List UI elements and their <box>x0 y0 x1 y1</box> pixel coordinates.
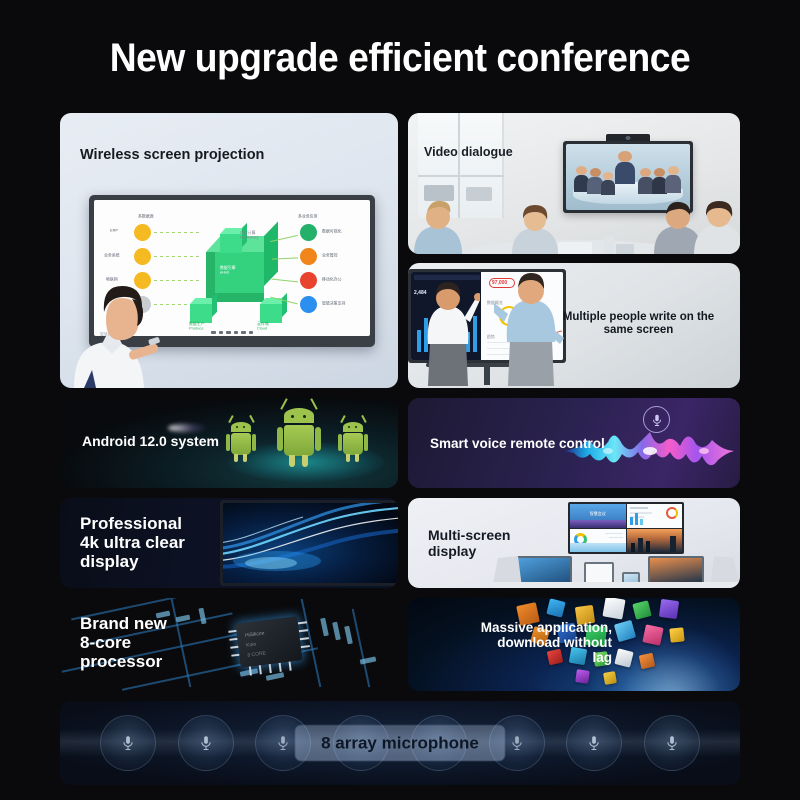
panel-apps-label: Massive application, download without la… <box>422 620 612 665</box>
multi-screen-tv-icon: 智慧会议 <box>568 502 684 554</box>
panel-multi-write-label: Multiple people write on the same screen <box>551 311 726 337</box>
mic-disc-2 <box>178 715 234 771</box>
panel-massive-application[interactable]: Massive application, download without la… <box>408 598 740 691</box>
mic-disc-8 <box>644 715 700 771</box>
camera-icon <box>606 134 650 141</box>
4k-display-icon <box>220 500 398 586</box>
panel-wireless-label: Wireless screen projection <box>80 147 264 163</box>
panel-multiple-people-write[interactable]: Multiple people write on the same screen… <box>408 263 740 388</box>
meeting-attendees-illustration <box>408 190 740 254</box>
feature-grid: Wireless screen projection 多数据源 ERP 业务系统… <box>60 113 740 785</box>
panel-array-microphone[interactable]: 8 array microphone <box>60 701 740 785</box>
light-beam <box>168 424 208 432</box>
panel-android-label: Android 12.0 system <box>82 434 219 450</box>
panel-processor-label: Brand new 8-core processor <box>80 614 167 671</box>
mic-disc-7 <box>566 715 622 771</box>
cpu-chip-icon: HiSilicon Kirin 8 CORE <box>236 616 303 667</box>
page-title: New upgrade efficient conference <box>28 36 772 81</box>
panel-wireless-screen-projection[interactable]: Wireless screen projection 多数据源 ERP 业务系统… <box>60 113 398 388</box>
panel-smart-voice-control[interactable]: Smart voice remote control <box>408 398 740 488</box>
panel-microphone-label: 8 array microphone <box>321 733 479 752</box>
panel-8core-processor[interactable]: HiSilicon Kirin 8 CORE Brand new 8-core … <box>60 598 398 691</box>
android-robot-icon <box>220 398 392 486</box>
panel-4k-label: Professional 4k ultra clear display <box>80 514 185 571</box>
panel-multi-screen-display[interactable]: Multi-screen display 智慧会议 <box>408 498 740 588</box>
panel-video-label: Video dialogue <box>424 145 513 159</box>
person-writing-left <box>416 278 480 388</box>
panel-video-dialogue[interactable]: Video dialogue <box>408 113 740 254</box>
panel-android-system[interactable]: Android 12.0 system <box>60 398 398 488</box>
person-presenting-illustration <box>72 260 164 388</box>
panel-4k-display[interactable]: Professional 4k ultra clear display <box>60 498 398 588</box>
panel-voice-label: Smart voice remote control <box>430 436 605 451</box>
panel-multiscreen-label: Multi-screen display <box>428 528 510 559</box>
mic-disc-1 <box>100 715 156 771</box>
office-chairs-illustration <box>492 548 740 588</box>
